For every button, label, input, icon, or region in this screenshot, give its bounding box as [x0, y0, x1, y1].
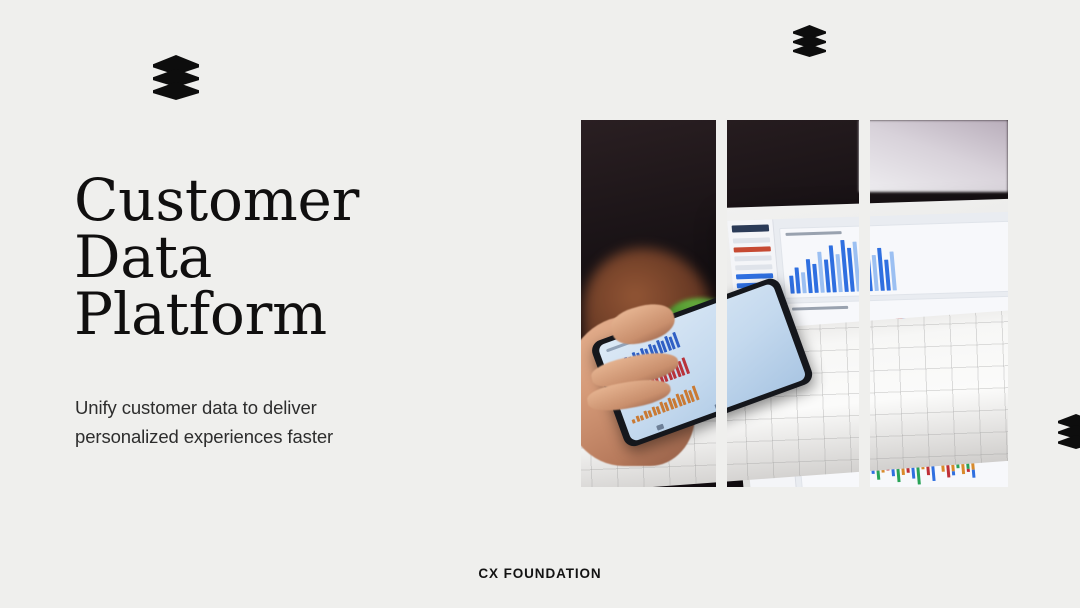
layers-stack-icon — [153, 55, 199, 101]
subtitle-line-2: personalized experiences faster — [75, 422, 475, 451]
collage-panel-laptop-donut: 25% 25% 11% 25% — [870, 120, 1008, 487]
blue-bar-chart — [870, 233, 1008, 294]
headline-line-3: Platform — [74, 286, 544, 343]
layer-bottom — [153, 82, 199, 100]
photo-slice: 41% 74% 36% 48% — [581, 120, 716, 487]
subtitle-line-1: Unify customer data to deliver — [75, 393, 475, 422]
page-title: Customer Data Platform — [74, 172, 544, 343]
layers-stack-icon-clipped — [1058, 414, 1080, 450]
sidebar-item — [734, 255, 771, 261]
collage-panel-laptop-gauges: 41% 74% 36% 48% — [727, 120, 859, 487]
photo-slice: 25% 25% 11% 25% — [870, 120, 1008, 487]
layers-stack-icon-top-right — [793, 25, 826, 57]
layer-bottom — [1058, 435, 1080, 449]
sidebar-logo — [732, 224, 770, 232]
card-title — [792, 306, 848, 311]
headline-line-2: Data — [74, 229, 544, 286]
keyboard — [870, 310, 1008, 487]
layer-bottom — [793, 44, 826, 57]
slide-canvas: Customer Data Platform Unify customer da… — [0, 0, 1080, 608]
card-bar-chart — [779, 221, 859, 299]
sidebar-item-alert — [733, 246, 770, 252]
photo-slice: 41% 74% 36% 48% — [727, 120, 859, 487]
collage-panel-hand-phone: 41% 74% 36% 48% — [581, 120, 716, 487]
photo-ceiling — [870, 120, 1008, 192]
nav-icon — [714, 403, 716, 410]
subtitle: Unify customer data to deliver personali… — [75, 393, 475, 451]
image-collage: 41% 74% 36% 48% — [581, 120, 1008, 487]
headline-line-1: Customer — [74, 172, 544, 229]
dashboard-topbar — [779, 217, 859, 224]
footer-wordmark: CX FOUNDATION — [0, 566, 1080, 581]
sidebar-item — [735, 264, 772, 270]
nav-icon — [656, 424, 664, 431]
sidebar-item — [733, 237, 770, 243]
keyboard-keys — [870, 310, 1008, 487]
card-title — [785, 231, 841, 236]
card-bar-chart — [870, 221, 1008, 299]
blue-bar-chart — [786, 233, 859, 294]
